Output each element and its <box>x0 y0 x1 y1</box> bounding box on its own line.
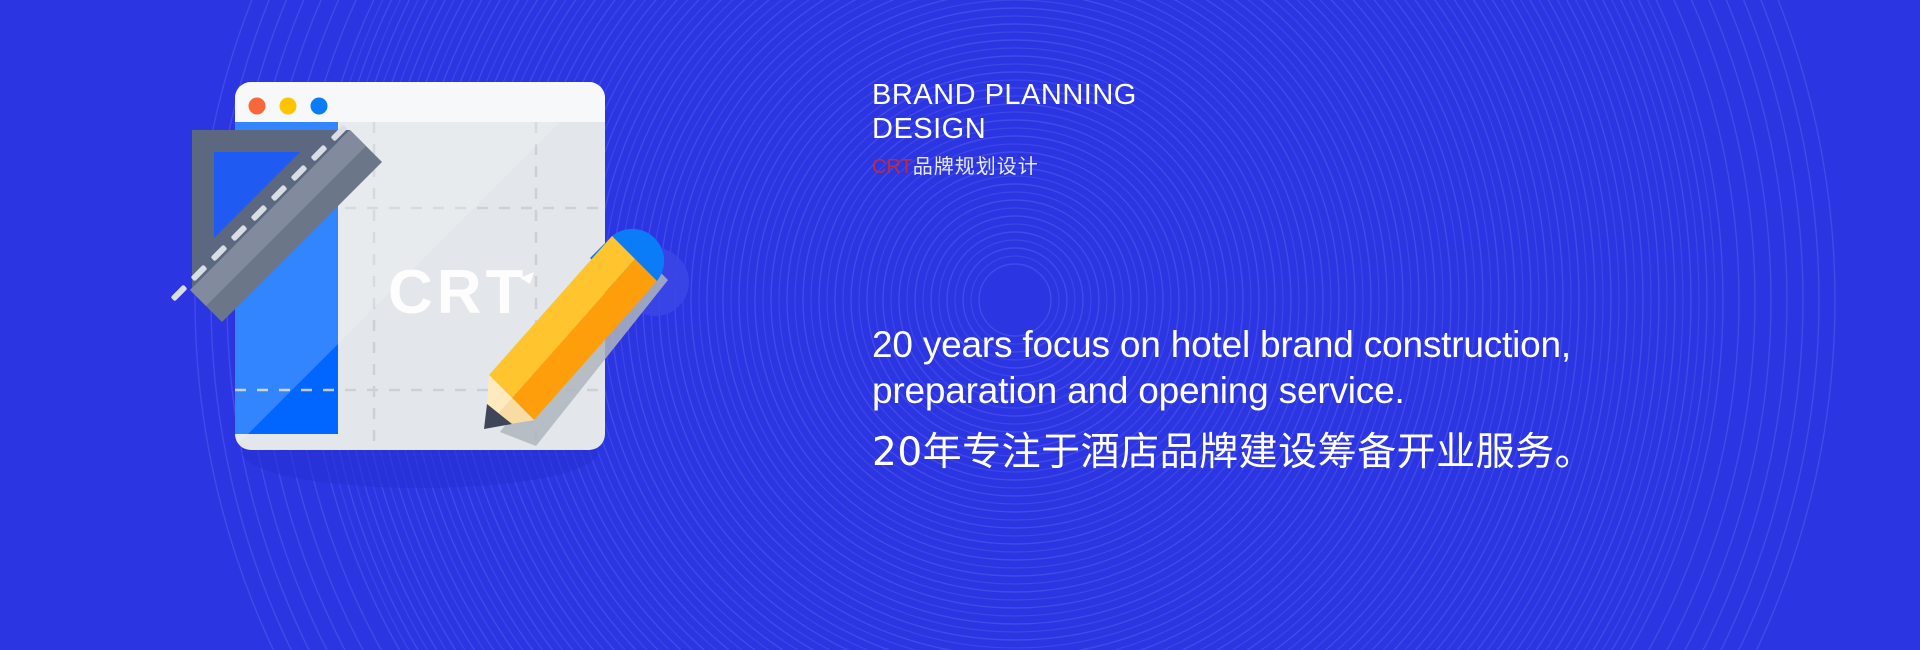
banner-text-column: BRAND PLANNING DESIGN CRT品牌规划设计 20 years… <box>862 0 1920 650</box>
brand-design-illustration: CRT <box>0 0 860 650</box>
eyebrow-chinese-line: CRT品牌规划设计 <box>872 154 1512 179</box>
tagline-chinese: 20年专注于酒店品牌建设筹备开业服务。 <box>872 428 1912 478</box>
tagline-english: 20 years focus on hotel brand constructi… <box>872 322 1912 414</box>
brand-mark-crt: CRT <box>872 156 913 178</box>
eyebrow-chinese: 品牌规划设计 <box>913 154 1039 178</box>
eyebrow-block: BRAND PLANNING DESIGN CRT品牌规划设计 <box>872 78 1512 179</box>
eyebrow-english: BRAND PLANNING DESIGN <box>872 78 1512 146</box>
close-dot <box>249 98 266 115</box>
minimize-dot <box>280 98 297 115</box>
brand-banner: CRT <box>0 0 1920 650</box>
maximize-dot <box>311 98 328 115</box>
tagline-block: 20 years focus on hotel brand constructi… <box>872 322 1912 478</box>
